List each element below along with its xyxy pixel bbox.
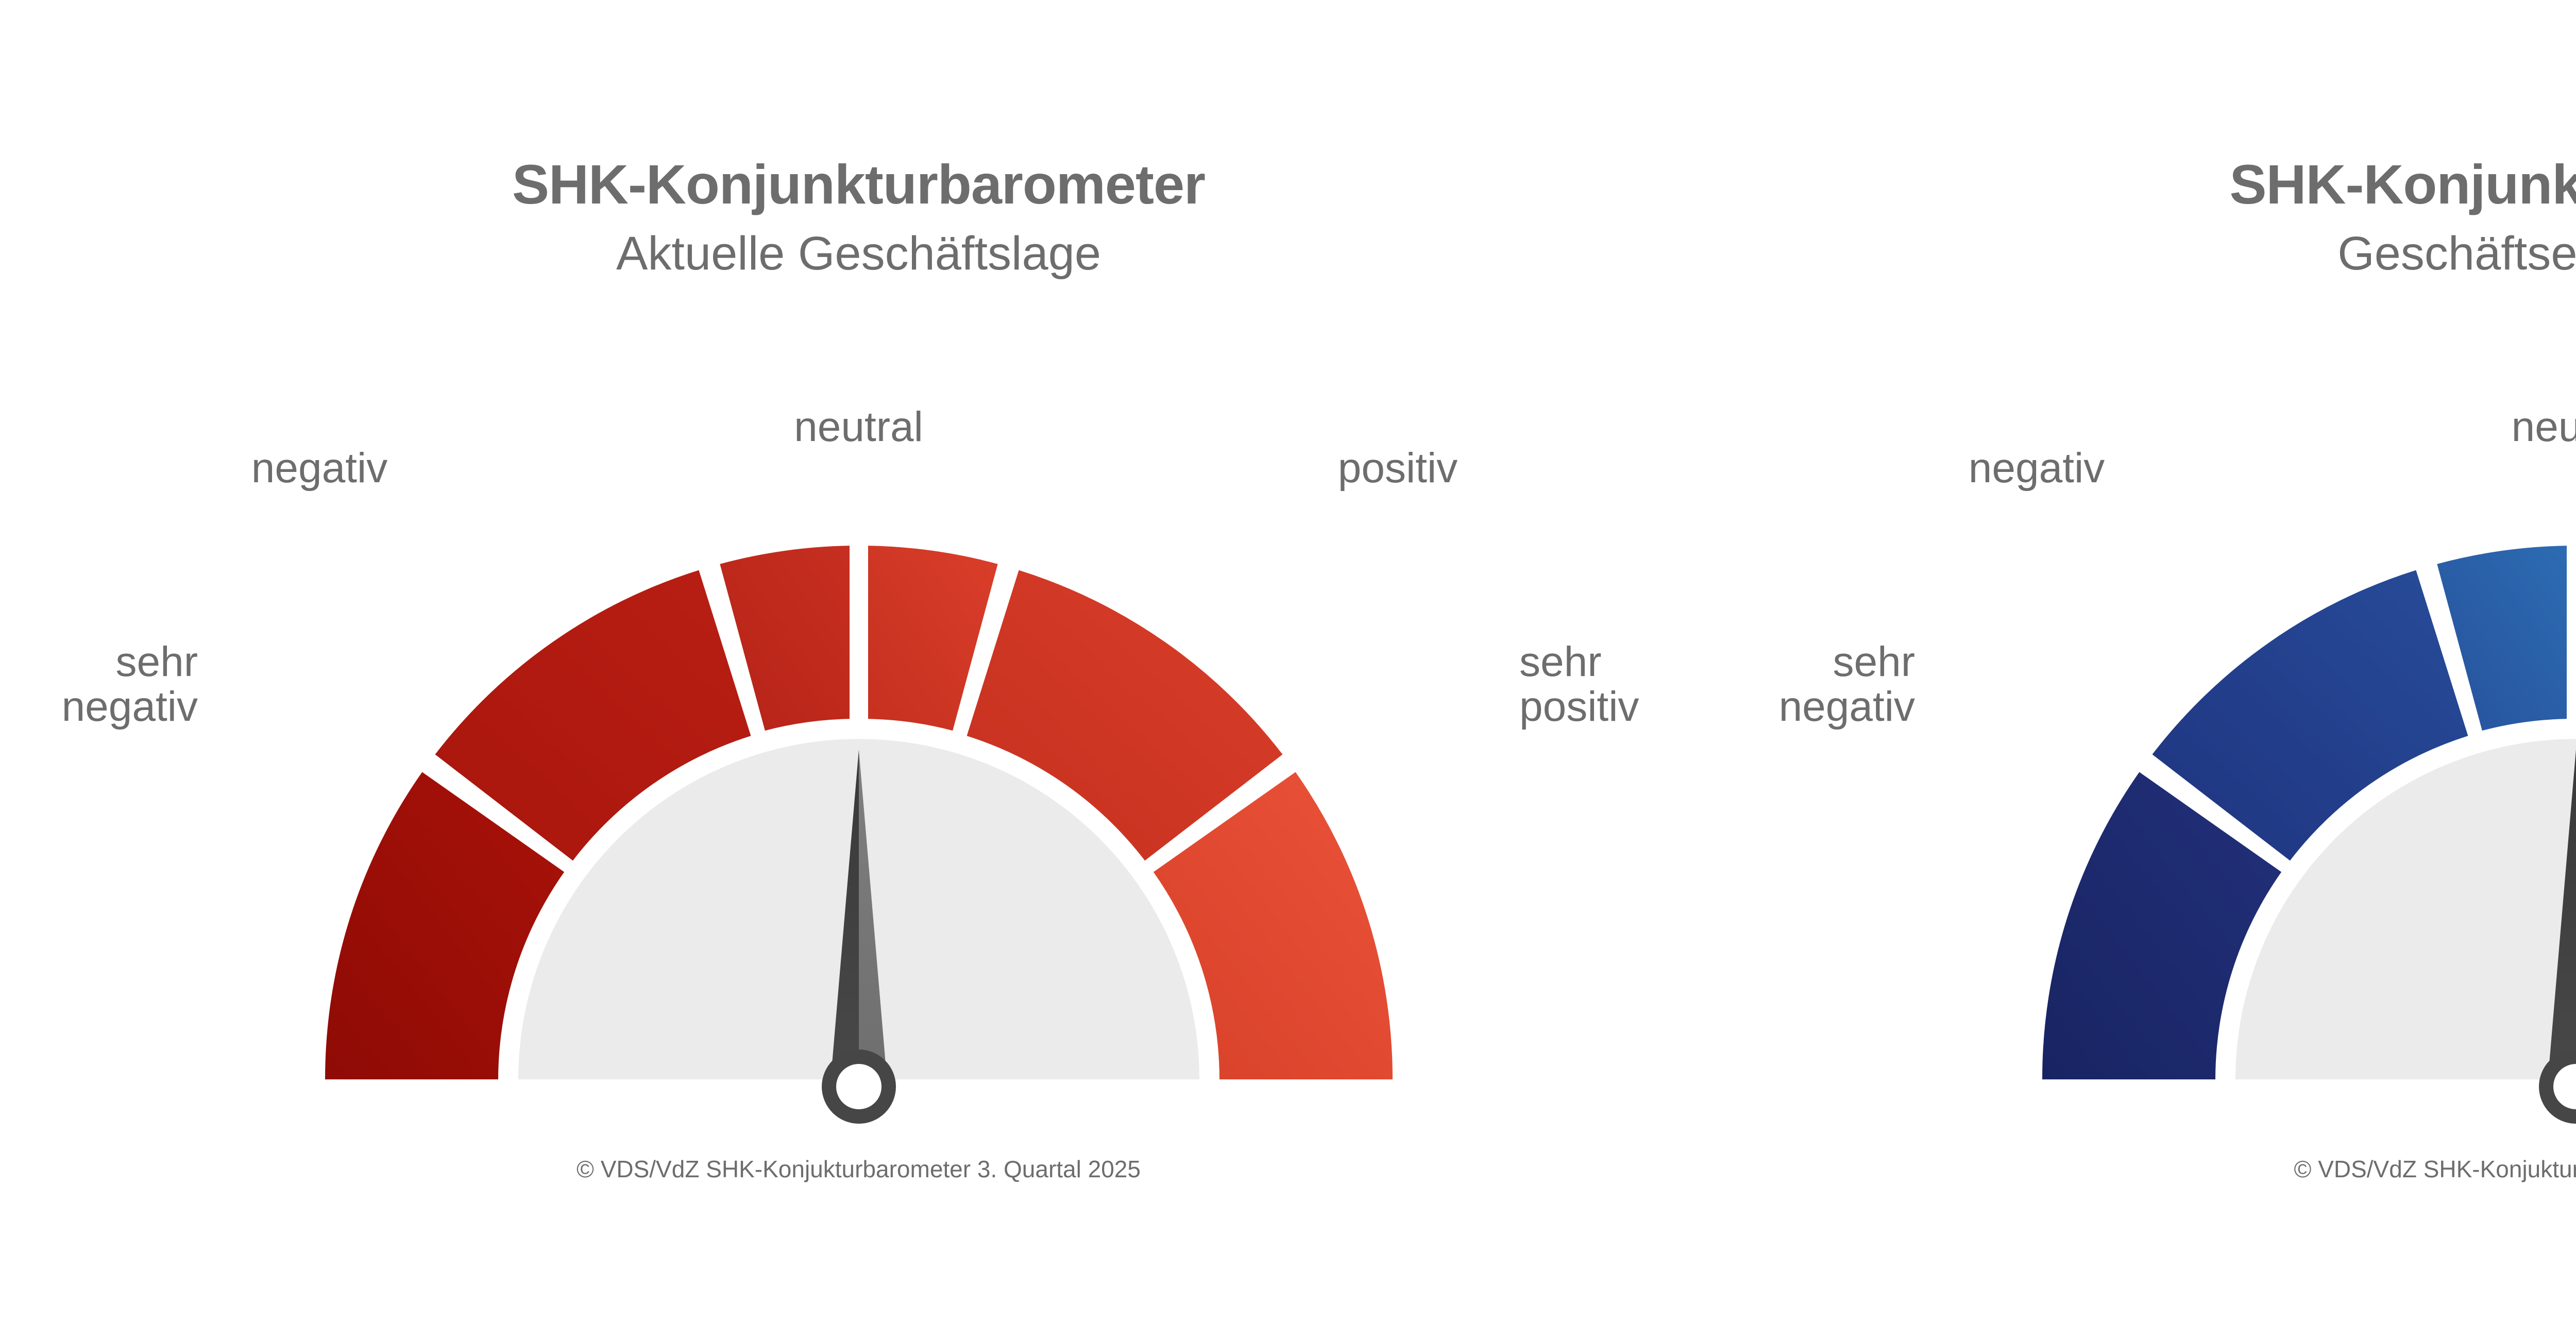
copyright-note: © VDS/VdZ SHK-Konjukturbarometer 3. Quar… [1717,1155,2576,1183]
gauge-svg-left [71,278,1647,1103]
gauge-dial-right [2042,546,2576,1124]
gauge-geschaeftserwartungen: neutral negativ positiv sehr negativ seh… [1717,0,2576,1337]
needle-hub-center [836,1064,882,1109]
gauge-svg-right [1788,278,2576,1103]
gauge-panel-aktuelle-geschaeftslage: SHK-Konjunkturbarometer Aktuelle Geschäf… [0,0,1717,1337]
gauge-panel-geschaeftserwartungen: SHK-Konjunkturbarometer Geschäftserwartu… [1717,0,2576,1337]
gauge-aktuelle-geschaeftslage: neutral negativ positiv sehr negativ seh… [0,0,1717,1337]
barometer-board: SHK-Konjunkturbarometer Aktuelle Geschäf… [0,0,2576,1337]
gauge-dial-left [325,546,1392,1124]
copyright-note: © VDS/VdZ SHK-Konjukturbarometer 3. Quar… [0,1155,1717,1183]
